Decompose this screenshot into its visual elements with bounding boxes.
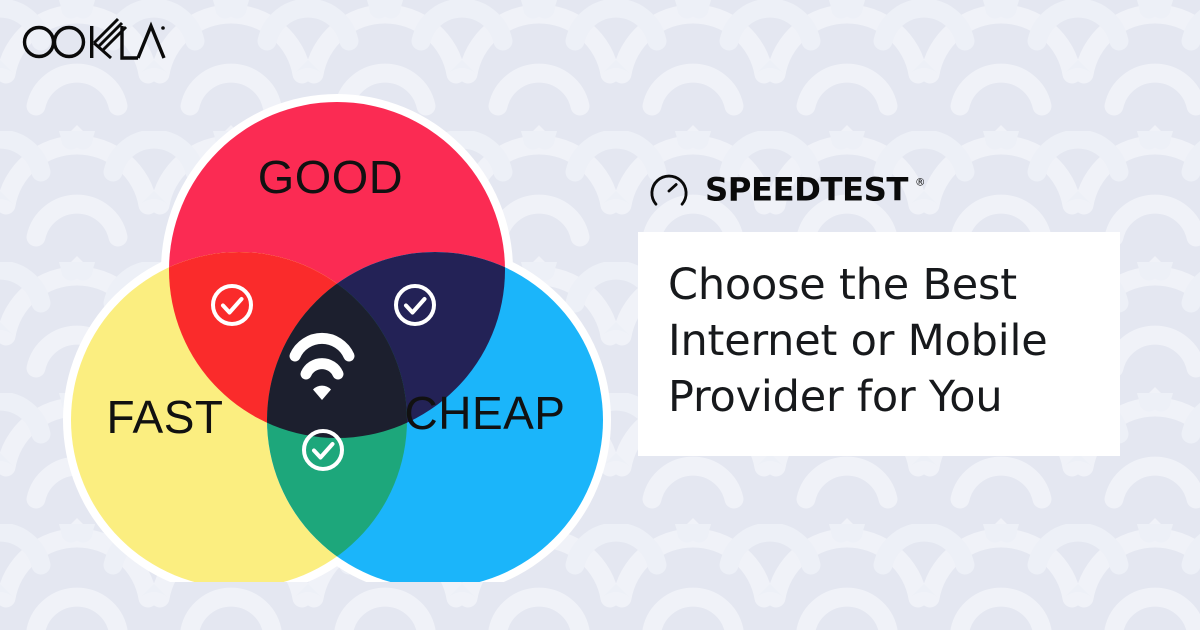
registered-trademark-icon: ®	[915, 176, 925, 188]
venn-label-fast: FAST	[106, 391, 223, 443]
speedtest-wordmark: SPEEDTEST ®	[701, 172, 937, 210]
speedtest-logo[interactable]: SPEEDTEST ®	[638, 168, 1128, 214]
venn-label-cheap: CHEAP	[405, 387, 566, 439]
speedtest-wordmark-text: SPEEDTEST	[705, 172, 908, 209]
venn-diagram: GOOD FAST CHEAP	[55, 62, 615, 582]
venn-label-good: GOOD	[258, 151, 403, 202]
ookla-logo[interactable]	[18, 16, 168, 62]
speedometer-gauge-icon	[650, 172, 688, 210]
right-content-column: SPEEDTEST ® Choose the Best Internet or …	[638, 168, 1128, 456]
page-title: Choose the Best Internet or Mobile Provi…	[668, 258, 1090, 426]
speedtest-social-card: GOOD FAST CHEAP	[0, 0, 1200, 630]
headline-card: Choose the Best Internet or Mobile Provi…	[638, 232, 1120, 456]
